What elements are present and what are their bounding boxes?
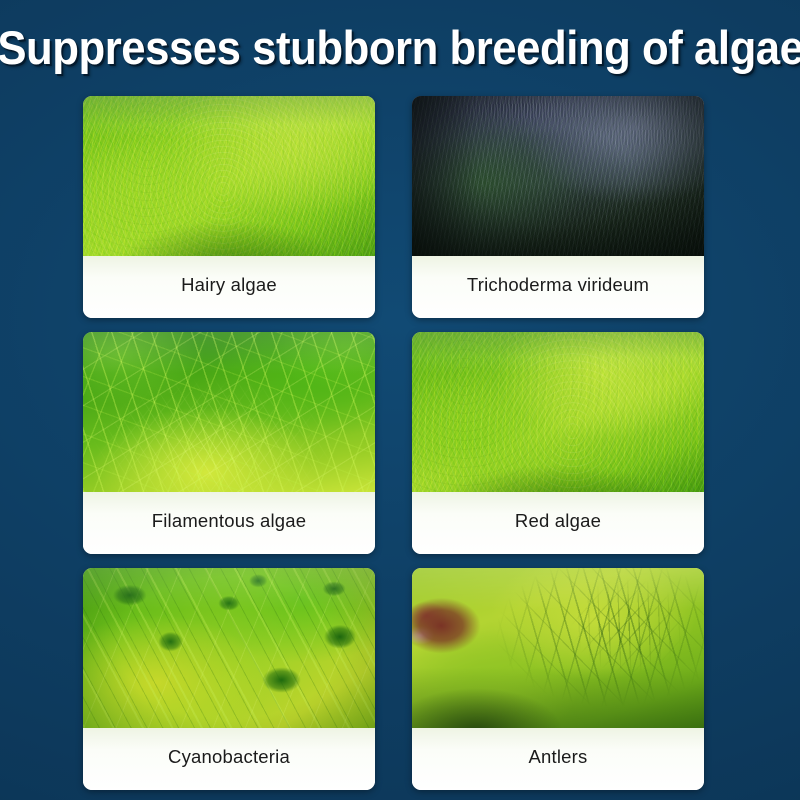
algae-card-label: Trichoderma virideum bbox=[467, 274, 649, 296]
antlers-photo bbox=[412, 568, 704, 728]
algae-poster: Suppresses stubborn breeding of algae Ha… bbox=[0, 0, 800, 800]
trichoderma-virideum-photo bbox=[412, 96, 704, 256]
photo-glare-layer bbox=[83, 568, 375, 728]
algae-card-caption: Trichoderma virideum bbox=[412, 256, 704, 318]
algae-card-label: Filamentous algae bbox=[152, 510, 307, 532]
algae-card-caption: Hairy algae bbox=[83, 256, 375, 318]
algae-card-caption: Antlers bbox=[412, 728, 704, 790]
red-algae-photo bbox=[412, 332, 704, 492]
cyanobacteria-photo bbox=[83, 568, 375, 728]
hairy-algae-photo bbox=[83, 96, 375, 256]
algae-card-caption: Red algae bbox=[412, 492, 704, 554]
filamentous-algae-photo bbox=[83, 332, 375, 492]
algae-card[interactable]: Antlers bbox=[412, 568, 704, 790]
algae-card-label: Cyanobacteria bbox=[168, 746, 290, 768]
page-title: Suppresses stubborn breeding of algae bbox=[0, 16, 800, 78]
photo-glare-layer bbox=[412, 568, 704, 728]
photo-vignette-layer bbox=[412, 96, 704, 256]
page-title-text: Suppresses stubborn breeding of algae bbox=[0, 24, 800, 71]
algae-card[interactable]: Filamentous algae bbox=[83, 332, 375, 554]
algae-card-label: Antlers bbox=[529, 746, 588, 768]
photo-glare-layer bbox=[83, 96, 375, 256]
algae-card-label: Red algae bbox=[515, 510, 601, 532]
algae-card-caption: Cyanobacteria bbox=[83, 728, 375, 790]
algae-card[interactable]: Trichoderma virideum bbox=[412, 96, 704, 318]
algae-card-label: Hairy algae bbox=[181, 274, 277, 296]
photo-glare-layer bbox=[83, 332, 375, 492]
algae-card-caption: Filamentous algae bbox=[83, 492, 375, 554]
algae-gallery-grid: Hairy algae Trichoderma virideum bbox=[83, 96, 704, 790]
algae-card[interactable]: Cyanobacteria bbox=[83, 568, 375, 790]
photo-glare-layer bbox=[412, 332, 704, 492]
algae-card[interactable]: Hairy algae bbox=[83, 96, 375, 318]
algae-card[interactable]: Red algae bbox=[412, 332, 704, 554]
